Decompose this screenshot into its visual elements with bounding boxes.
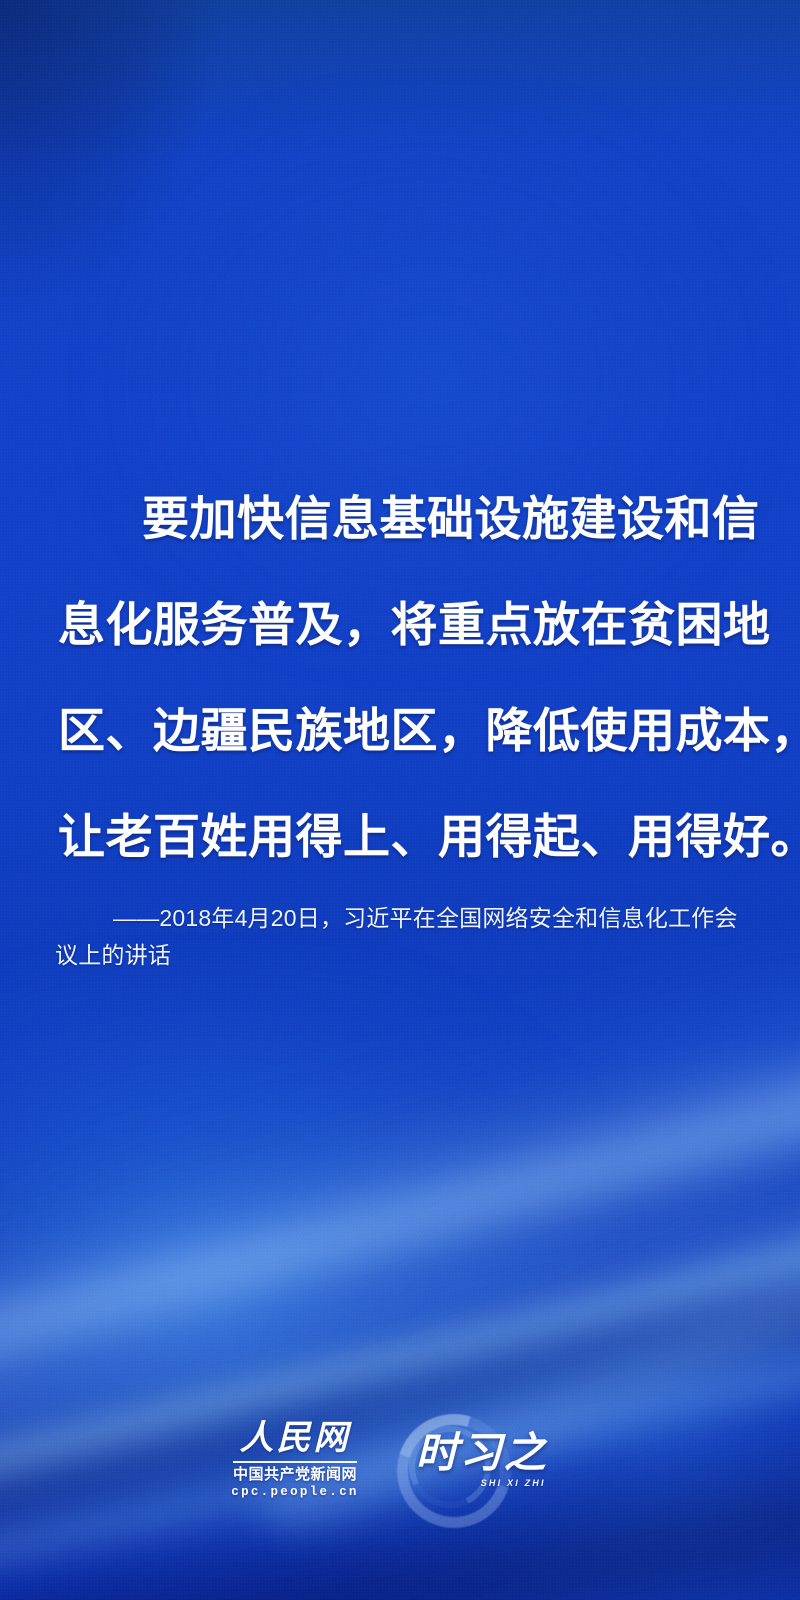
people-logo-divider <box>233 1461 357 1463</box>
quote-line-1: 要加快信息基础设施建设和信 <box>0 466 800 572</box>
shixizhi-name-pinyin: SHI XI ZHI <box>481 1479 548 1488</box>
quote-line-3: 区、边疆民族地区，降低使用成本， <box>0 678 800 784</box>
poster-content: 要加快信息基础设施建设和信 息化服务普及，将重点放在贫困地 区、边疆民族地区，降… <box>0 0 800 1600</box>
people-logo-brand-cn: 人民网 <box>237 1422 352 1460</box>
shixizhi-name-cn: 时习之 <box>416 1432 548 1474</box>
poster-canvas: 要加快信息基础设施建设和信 息化服务普及，将重点放在贫困地 区、边疆民族地区，降… <box>0 0 800 1600</box>
people-daily-logo[interactable]: 人民网 中国共产党新闻网 cpc.people.cn <box>231 1422 358 1498</box>
attribution-text: ——2018年4月20日，习近平在全国网络安全和信息化工作会议上的讲话 <box>55 905 738 968</box>
shixizhi-logo[interactable]: 时习之 SHI XI ZHI <box>383 1412 569 1508</box>
shixizhi-wordmark: 时习之 SHI XI ZHI <box>416 1432 548 1488</box>
people-logo-url: cpc.people.cn <box>231 1486 358 1499</box>
quote-attribution: ——2018年4月20日，习近平在全国网络安全和信息化工作会议上的讲话 <box>55 900 755 974</box>
quote-line-2: 息化服务普及，将重点放在贫困地 <box>0 572 800 678</box>
quote-line-4: 让老百姓用得上、用得起、用得好。 <box>0 784 800 890</box>
people-logo-brand-sub: 中国共产党新闻网 <box>233 1467 357 1482</box>
quote-block: 要加快信息基础设施建设和信 息化服务普及，将重点放在贫困地 区、边疆民族地区，降… <box>0 466 800 890</box>
footer-logo-row: 人民网 中国共产党新闻网 cpc.people.cn 时习之 SHI XI ZH… <box>0 1412 800 1508</box>
